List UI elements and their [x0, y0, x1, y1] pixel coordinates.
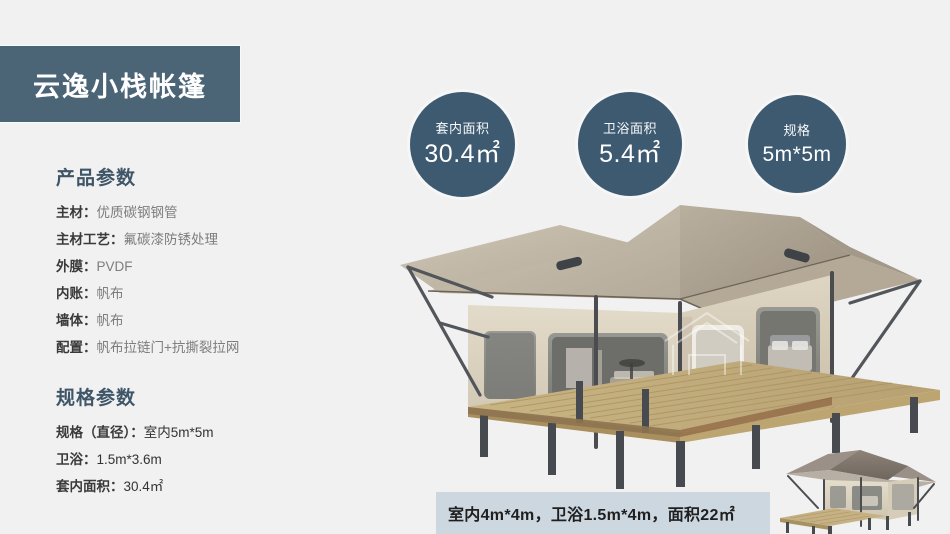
title-banner: 云逸小栈帐篷	[0, 46, 240, 122]
product-params-heading: 产品参数	[56, 163, 356, 190]
list-item: 规格（直径）：室内5m*5m	[56, 419, 356, 446]
list-item: 套内面积：30.4㎡	[56, 473, 356, 500]
list-item: 主材：优质碳钢钢管	[56, 199, 356, 226]
list-item: 卫浴：1.5m*3.6m	[56, 446, 356, 473]
list-item: 配置：帆布拉链门+抗撕裂拉网	[56, 334, 356, 361]
list-item: 外膜：PVDF	[56, 253, 356, 280]
badge-interior-area: 套内面积 30.4㎡	[410, 92, 515, 197]
param-label: 内账：	[56, 286, 97, 301]
badge-value: 5.4㎡	[599, 142, 661, 167]
caption-text: 室内4m*4m，卫浴1.5m*4m，面积22㎡	[448, 501, 735, 525]
param-value: 优质碳钢钢管	[97, 205, 178, 220]
param-label: 主材工艺：	[56, 232, 124, 247]
badge-value: 5m*5m	[762, 144, 831, 165]
badge-dimensions: 规格 5m*5m	[748, 95, 846, 193]
param-value: 帆布	[97, 313, 124, 328]
badge-label: 卫浴面积	[603, 122, 657, 135]
caption-bar: 室内4m*4m，卫浴1.5m*4m，面积22㎡	[436, 492, 770, 534]
spec-params-heading: 规格参数	[56, 383, 356, 410]
spec-params-section: 规格参数 规格（直径）：室内5m*5m 卫浴：1.5m*3.6m 套内面积：30…	[56, 383, 356, 500]
list-item: 墙体：帆布	[56, 307, 356, 334]
param-value: 帆布拉链门+抗撕裂拉网	[97, 340, 240, 355]
param-value: 氟碳漆防锈处理	[124, 232, 219, 247]
page-title: 云逸小栈帐篷	[33, 65, 207, 104]
product-params-list: 主材：优质碳钢钢管 主材工艺：氟碳漆防锈处理 外膜：PVDF 内账：帆布 墙体：…	[56, 199, 356, 361]
spec-params-list: 规格（直径）：室内5m*5m 卫浴：1.5m*3.6m 套内面积：30.4㎡	[56, 419, 356, 500]
param-label: 套内面积：	[56, 479, 124, 494]
param-label: 规格（直径）：	[56, 425, 144, 440]
product-spec-page: 云逸小栈帐篷 产品参数 主材：优质碳钢钢管 主材工艺：氟碳漆防锈处理 外膜：PV…	[0, 0, 950, 534]
spec-column: 产品参数 主材：优质碳钢钢管 主材工艺：氟碳漆防锈处理 外膜：PVDF 内账：帆…	[56, 163, 356, 500]
tent-thumbnail-image	[768, 446, 946, 534]
param-label: 配置：	[56, 340, 97, 355]
param-value: 30.4㎡	[124, 479, 164, 494]
badge-label: 规格	[783, 124, 810, 137]
param-value: 帆布	[97, 286, 124, 301]
param-label: 卫浴：	[56, 452, 97, 467]
param-value: PVDF	[97, 259, 133, 274]
badge-bathroom-area: 卫浴面积 5.4㎡	[578, 92, 682, 196]
param-label: 墙体：	[56, 313, 97, 328]
badge-label: 套内面积	[435, 122, 489, 135]
param-value: 室内5m*5m	[144, 425, 214, 440]
list-item: 主材工艺：氟碳漆防锈处理	[56, 226, 356, 253]
badge-value: 30.4㎡	[424, 142, 500, 167]
param-value: 1.5m*3.6m	[97, 452, 162, 467]
list-item: 内账：帆布	[56, 280, 356, 307]
param-label: 外膜：	[56, 259, 97, 274]
param-label: 主材：	[56, 205, 97, 220]
